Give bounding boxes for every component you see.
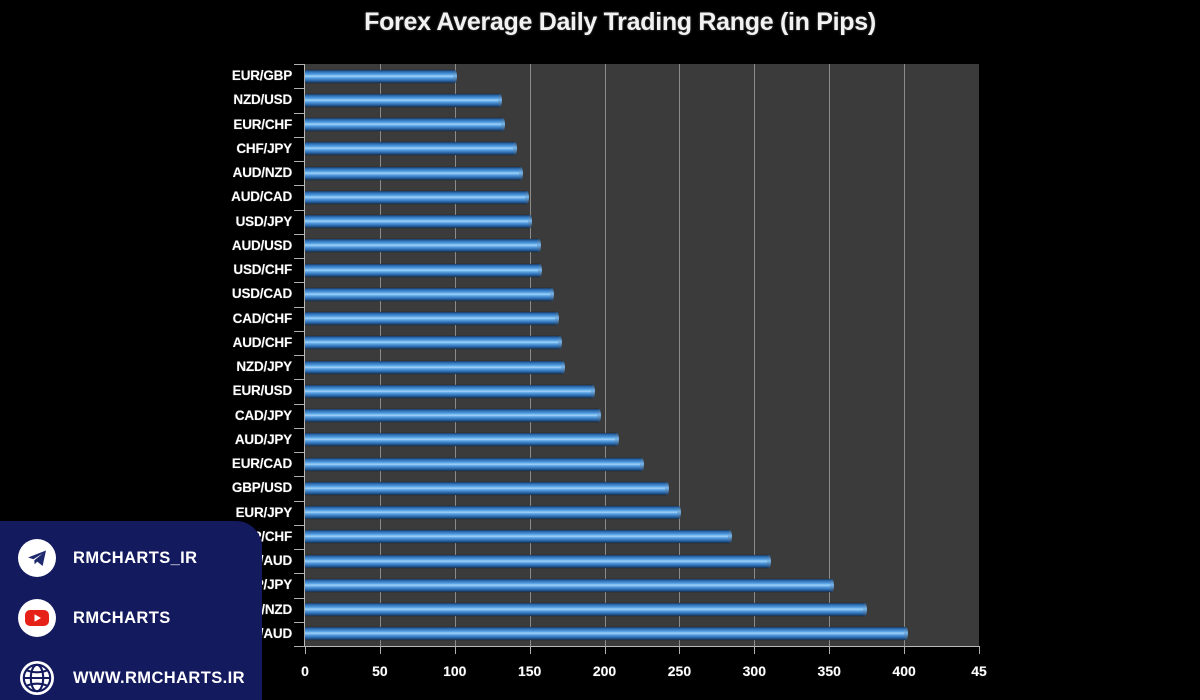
bar-usd-chf xyxy=(305,264,540,277)
y-tick-2 xyxy=(294,113,304,114)
bar-row xyxy=(305,161,979,185)
bar-cap xyxy=(640,458,644,471)
x-tick-label-100: 100 xyxy=(425,663,485,679)
bar-eur-nzd xyxy=(305,603,865,616)
x-tick-label-350: 350 xyxy=(799,663,859,679)
y-tick-13 xyxy=(294,379,304,380)
bar-cap xyxy=(537,239,541,252)
y-tick-0 xyxy=(294,64,304,65)
bar-row xyxy=(305,355,979,379)
watermark-row-telegram[interactable]: RMCHARTS_IR xyxy=(18,539,197,577)
bar-aud-nzd xyxy=(305,167,521,180)
bar-cap xyxy=(498,94,502,107)
telegram-icon xyxy=(18,539,56,577)
bar-cap xyxy=(677,506,681,519)
bar-cap xyxy=(501,118,505,131)
bar-cap xyxy=(453,70,457,83)
bar-row xyxy=(305,88,979,112)
x-tick-100 xyxy=(455,646,456,654)
x-tick-350 xyxy=(829,646,830,654)
bar-cap xyxy=(519,167,523,180)
y-tick-22 xyxy=(294,598,304,599)
bar-gbp-jpy xyxy=(305,579,832,592)
bar-row xyxy=(305,258,979,282)
bar-row xyxy=(305,185,979,209)
y-label-chf-jpy: CHF/JPY xyxy=(236,141,292,156)
watermark-panel: RMCHARTS_IR RMCHARTS xyxy=(0,521,262,700)
x-tick-0 xyxy=(305,646,306,654)
y-tick-11 xyxy=(294,331,304,332)
x-tick-200 xyxy=(605,646,606,654)
y-label-usd-chf: USD/CHF xyxy=(233,262,292,277)
x-tick-label-400: 400 xyxy=(874,663,934,679)
x-axis-spine xyxy=(304,646,980,647)
y-label-eur-chf: EUR/CHF xyxy=(233,117,292,132)
y-tick-18 xyxy=(294,501,304,502)
y-label-cad-chf: CAD/CHF xyxy=(233,311,292,326)
bar-cap xyxy=(830,579,834,592)
bar-cap xyxy=(615,433,619,446)
y-tick-16 xyxy=(294,452,304,453)
x-tick-label-250: 250 xyxy=(649,663,709,679)
bar-cap xyxy=(665,482,669,495)
y-label-gbp-usd: GBP/USD xyxy=(232,480,292,495)
page-title: Forex Average Daily Trading Range (in Pi… xyxy=(260,8,980,37)
y-label-aud-nzd: AUD/NZD xyxy=(233,165,292,180)
bar-row xyxy=(305,331,979,355)
bar-eur-gbp xyxy=(305,70,455,83)
bar-cap xyxy=(561,361,565,374)
y-tick-19 xyxy=(294,525,304,526)
watermark-label-website: WWW.RMCHARTS.IR xyxy=(73,669,245,688)
bar-row xyxy=(305,476,979,500)
y-label-aud-cad: AUD/CAD xyxy=(231,189,292,204)
bar-row xyxy=(305,452,979,476)
y-tick-23 xyxy=(294,622,304,623)
bar-gbp-chf xyxy=(305,530,730,543)
bar-cap xyxy=(513,142,517,155)
y-tick-12 xyxy=(294,355,304,356)
bar-row xyxy=(305,307,979,331)
bar-row xyxy=(305,622,979,646)
bar-eur-usd xyxy=(305,385,593,398)
y-label-eur-jpy: EUR/JPY xyxy=(236,505,292,520)
globe-icon xyxy=(18,659,56,697)
x-tick-label-0: 0 xyxy=(275,663,335,679)
bar-cad-chf xyxy=(305,312,557,325)
y-tick-17 xyxy=(294,476,304,477)
bar-cap xyxy=(550,288,554,301)
x-tick-450 xyxy=(979,646,980,654)
bar-row xyxy=(305,525,979,549)
bar-nzd-usd xyxy=(305,94,500,107)
bars-layer xyxy=(305,64,979,646)
x-tick-label-50: 50 xyxy=(350,663,410,679)
watermark-row-website[interactable]: WWW.RMCHARTS.IR xyxy=(18,659,245,697)
bar-usd-jpy xyxy=(305,215,530,228)
bar-cap xyxy=(528,215,532,228)
bar-cap xyxy=(767,555,771,568)
bar-row xyxy=(305,210,979,234)
bar-usd-cad xyxy=(305,288,552,301)
bar-row xyxy=(305,501,979,525)
bar-row xyxy=(305,282,979,306)
bar-eur-cad xyxy=(305,458,642,471)
youtube-icon xyxy=(18,599,56,637)
bar-cap xyxy=(597,409,601,422)
y-tick-9 xyxy=(294,282,304,283)
x-tick-label-450: 45 xyxy=(949,663,1009,679)
bar-eur-aud xyxy=(305,555,769,568)
y-tick-5 xyxy=(294,185,304,186)
bar-cap xyxy=(538,264,542,277)
x-tick-label-150: 150 xyxy=(500,663,560,679)
y-label-usd-cad: USD/CAD xyxy=(232,286,292,301)
x-tick-150 xyxy=(530,646,531,654)
y-tick-10 xyxy=(294,307,304,308)
bar-gbp-usd xyxy=(305,482,667,495)
bar-gbp-aud xyxy=(305,627,906,640)
bar-row xyxy=(305,137,979,161)
y-tick-4 xyxy=(294,161,304,162)
y-label-eur-gbp: EUR/GBP xyxy=(232,68,292,83)
bar-cap xyxy=(558,336,562,349)
y-label-nzd-jpy: NZD/JPY xyxy=(236,359,292,374)
watermark-label-youtube: RMCHARTS xyxy=(73,609,171,628)
bar-cad-jpy xyxy=(305,409,599,422)
chart-root: Forex Average Daily Trading Range (in Pi… xyxy=(0,0,1200,700)
y-tick-15 xyxy=(294,428,304,429)
watermark-label-telegram: RMCHARTS_IR xyxy=(73,549,197,568)
y-tick-6 xyxy=(294,210,304,211)
bar-aud-usd xyxy=(305,239,539,252)
y-tick-end xyxy=(294,646,304,647)
y-label-usd-jpy: USD/JPY xyxy=(236,214,292,229)
y-label-eur-usd: EUR/USD xyxy=(233,383,292,398)
bar-cap xyxy=(863,603,867,616)
bar-row xyxy=(305,234,979,258)
x-tick-50 xyxy=(380,646,381,654)
bar-eur-chf xyxy=(305,118,503,131)
bar-row xyxy=(305,549,979,573)
bar-cap xyxy=(904,627,908,640)
y-label-aud-chf: AUD/CHF xyxy=(233,335,292,350)
y-tick-14 xyxy=(294,404,304,405)
bar-row xyxy=(305,404,979,428)
bar-cap xyxy=(728,530,732,543)
y-label-aud-usd: AUD/USD xyxy=(232,238,292,253)
bar-row xyxy=(305,598,979,622)
x-tick-300 xyxy=(754,646,755,654)
y-tick-3 xyxy=(294,137,304,138)
watermark-row-youtube[interactable]: RMCHARTS xyxy=(18,599,171,637)
bar-aud-cad xyxy=(305,191,527,204)
y-label-nzd-usd: NZD/USD xyxy=(233,92,292,107)
bar-aud-chf xyxy=(305,336,560,349)
bar-chf-jpy xyxy=(305,142,515,155)
bar-cap xyxy=(525,191,529,204)
bar-aud-jpy xyxy=(305,433,617,446)
bar-row xyxy=(305,64,979,88)
y-label-cad-jpy: CAD/JPY xyxy=(235,408,292,423)
y-tick-1 xyxy=(294,88,304,89)
x-tick-400 xyxy=(904,646,905,654)
y-tick-7 xyxy=(294,234,304,235)
x-tick-label-300: 300 xyxy=(724,663,784,679)
bar-cap xyxy=(555,312,559,325)
bar-eur-jpy xyxy=(305,506,679,519)
bar-row xyxy=(305,573,979,597)
y-label-eur-cad: EUR/CAD xyxy=(232,456,292,471)
x-tick-label-200: 200 xyxy=(575,663,635,679)
bar-row xyxy=(305,113,979,137)
bar-row xyxy=(305,379,979,403)
y-tick-20 xyxy=(294,549,304,550)
bar-nzd-jpy xyxy=(305,361,563,374)
x-tick-250 xyxy=(679,646,680,654)
y-tick-8 xyxy=(294,258,304,259)
y-tick-21 xyxy=(294,573,304,574)
bar-row xyxy=(305,428,979,452)
y-label-aud-jpy: AUD/JPY xyxy=(235,432,292,447)
bar-cap xyxy=(591,385,595,398)
